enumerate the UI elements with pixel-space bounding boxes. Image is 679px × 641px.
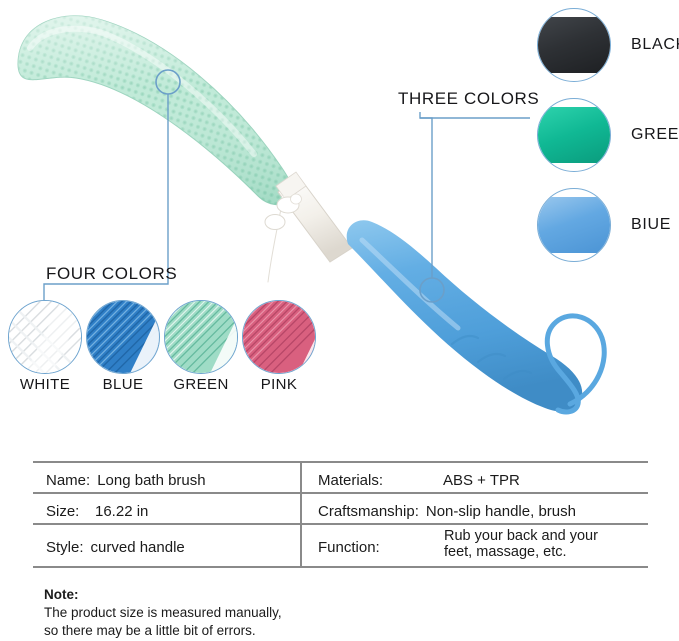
mesh-swatch-blue[interactable]	[86, 300, 160, 374]
fabric-texture-green	[164, 300, 238, 374]
table-key-function: Function:	[318, 539, 380, 556]
grip-swatch-caption-green: GREEN	[631, 126, 679, 144]
table-cell-craftsmanship: Craftsmanship: Non-slip handle, brush	[318, 499, 576, 523]
grip-swatch-caption-black: BLACK	[631, 36, 679, 54]
table-key-name: Name:	[46, 472, 90, 489]
table-value-name: Long bath brush	[97, 472, 205, 489]
table-cell-size: Size: 16.22 in	[46, 499, 148, 523]
note-block: Note: The product size is measured manua…	[44, 586, 282, 640]
table-key-materials: Materials:	[318, 472, 436, 489]
drawstring-cord	[265, 194, 302, 282]
table-key-craftsmanship: Craftsmanship:	[318, 503, 419, 520]
table-rule-top	[33, 461, 648, 463]
grip-fill-black	[537, 17, 611, 73]
brush-shaft	[276, 172, 352, 262]
table-value-style: curved handle	[91, 539, 185, 556]
table-rule-1	[33, 492, 648, 494]
table-value-craftsmanship: Non-slip handle, brush	[426, 503, 576, 520]
grip-swatch-caption-blue: BIUE	[631, 216, 671, 234]
table-key-size: Size:	[46, 503, 88, 520]
table-cell-materials: Materials: ABS + TPR	[318, 468, 520, 492]
table-rule-bottom	[33, 566, 648, 568]
mesh-swatch-pink[interactable]	[242, 300, 316, 374]
mesh-swatch-caption-pink: PINK	[233, 376, 325, 393]
grip-fill-blue	[537, 197, 611, 253]
grip-swatch-green[interactable]	[537, 98, 611, 172]
table-value-function-line2: feet, massage, etc.	[444, 544, 598, 560]
grip-fill-green	[537, 107, 611, 163]
grip-swatch-blue[interactable]	[537, 188, 611, 262]
mesh-swatch-green[interactable]	[164, 300, 238, 374]
note-title: Note:	[44, 586, 282, 604]
brush-head	[18, 16, 293, 205]
table-value-function-line1: Rub your back and your	[444, 528, 598, 544]
infographic-canvas: FOUR COLORS THREE COLORS WHITE	[0, 0, 679, 641]
note-line-2: so there may be a little bit of errors.	[44, 622, 282, 640]
fabric-texture-blue	[86, 300, 160, 374]
table-cell-style: Style: curved handle	[46, 533, 185, 561]
table-cell-name: Name: Long bath brush	[46, 468, 206, 492]
fabric-texture-pink	[242, 300, 316, 374]
mesh-swatch-white[interactable]	[8, 300, 82, 374]
fabric-texture-white	[8, 300, 82, 374]
note-line-1: The product size is measured manually,	[44, 604, 282, 622]
table-vertical-divider	[300, 461, 302, 566]
table-key-style: Style:	[46, 539, 84, 556]
three-colors-label: THREE COLORS	[398, 89, 539, 109]
four-colors-label: FOUR COLORS	[46, 264, 177, 284]
grip-swatch-black[interactable]	[537, 8, 611, 82]
table-rule-2	[33, 523, 648, 525]
table-value-materials: ABS + TPR	[443, 472, 520, 489]
table-value-size: 16.22 in	[95, 503, 148, 520]
table-value-function: Rub your back and your feet, massage, et…	[444, 528, 598, 560]
table-cell-function: Function:	[318, 533, 387, 561]
